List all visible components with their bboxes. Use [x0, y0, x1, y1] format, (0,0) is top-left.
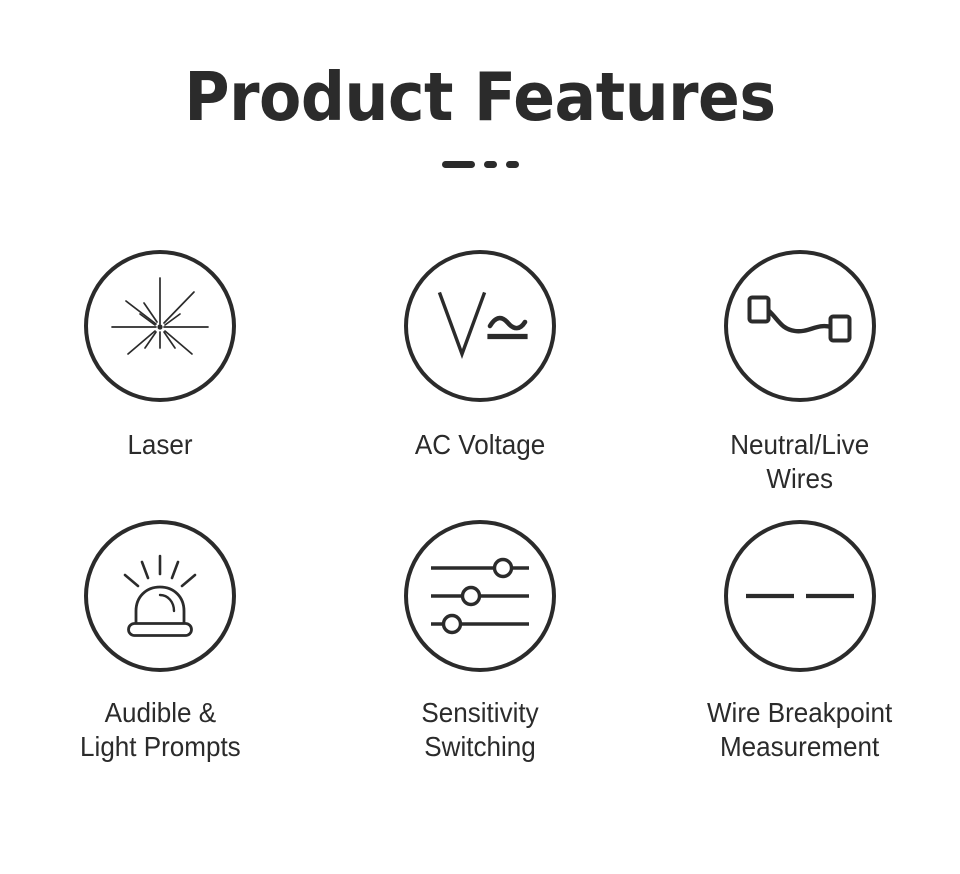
broken-wire-icon [744, 588, 856, 604]
feature-laser: Laser [0, 250, 320, 496]
laser-starburst-icon [104, 270, 216, 382]
page-title: Product Features [38, 64, 921, 131]
divider-dash-long [442, 161, 475, 168]
feature-grid: Laser AC Voltage [0, 250, 960, 765]
icon-circle-sensitivity-switching [404, 520, 556, 672]
icon-circle-laser [84, 250, 236, 402]
siren-beacon-icon [112, 552, 208, 640]
feature-ac-voltage: AC Voltage [320, 250, 640, 496]
feature-label-wire-breakpoint-measurement: Wire Breakpoint Measurement [707, 696, 892, 764]
feature-sensitivity-switching: Sensitivity Switching [320, 520, 640, 764]
divider-dot-one [484, 161, 497, 168]
feature-label-ac-voltage: AC Voltage [415, 428, 545, 462]
icon-circle-ac-voltage [404, 250, 556, 402]
ac-voltage-icon [432, 286, 528, 366]
divider-dot-two [506, 161, 519, 168]
product-features-infographic: Product Features [0, 0, 960, 874]
divider [0, 160, 960, 168]
header: Product Features [0, 64, 960, 168]
feature-label-sensitivity-switching: Sensitivity Switching [421, 696, 538, 764]
icon-circle-neutral-live-wires [724, 250, 876, 402]
icon-circle-audible-light-prompts [84, 520, 236, 672]
neutral-live-wires-icon [745, 291, 855, 361]
icon-circle-wire-breakpoint-measurement [724, 520, 876, 672]
feature-wire-breakpoint-measurement: Wire Breakpoint Measurement [640, 520, 960, 764]
feature-label-audible-light-prompts: Audible & Light Prompts [80, 696, 241, 764]
feature-neutral-live-wires: Neutral/Live Wires [640, 250, 960, 496]
feature-label-laser: Laser [127, 428, 192, 462]
sliders-icon [428, 558, 532, 634]
feature-label-neutral-live-wires: Neutral/Live Wires [731, 428, 870, 496]
feature-audible-light-prompts: Audible & Light Prompts [0, 520, 320, 764]
